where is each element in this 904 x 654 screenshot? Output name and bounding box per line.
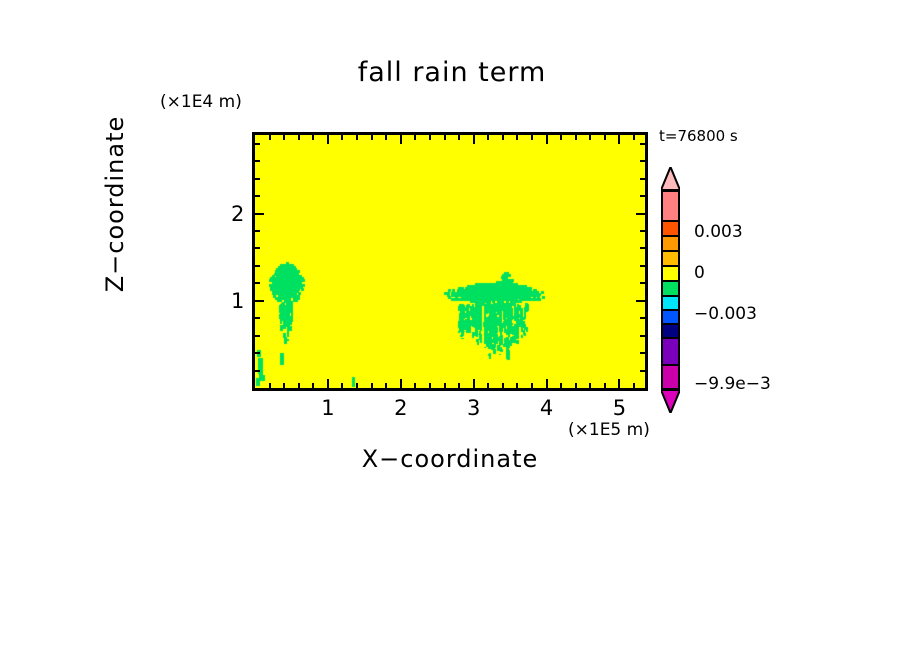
y-axis-minor-tick (255, 317, 260, 319)
y-axis-tick (255, 300, 264, 302)
colorbar-segment-amber (661, 250, 680, 265)
x-axis-minor-tick (575, 383, 577, 388)
y-axis-minor-tick (255, 282, 260, 284)
y-tick-label: 1 (231, 289, 244, 313)
x-axis-minor-tick (414, 383, 416, 388)
y-axis-minor-tick (640, 247, 645, 249)
y-axis-minor-tick (640, 317, 645, 319)
x-axis-minor-tick (283, 135, 285, 140)
x-axis-minor-tick (341, 383, 343, 388)
x-axis-minor-tick (298, 135, 300, 140)
x-axis-tick (327, 379, 329, 388)
y-axis-minor-tick (255, 178, 260, 180)
y-axis-unit-label: (×1E4 m) (160, 92, 242, 112)
x-axis-minor-tick (560, 135, 562, 140)
heatmap-canvas (255, 135, 645, 388)
x-axis-minor-tick (269, 135, 271, 140)
x-axis-tick (473, 135, 475, 144)
y-axis-minor-tick (640, 265, 645, 267)
colorbar-segment-orange-red (661, 220, 680, 235)
x-axis-minor-tick (516, 135, 518, 140)
colorbar-segment-orange (661, 235, 680, 250)
x-axis-minor-tick (458, 135, 460, 140)
x-axis-minor-tick (371, 383, 373, 388)
y-axis-minor-tick (255, 160, 260, 162)
x-axis-minor-tick (604, 135, 606, 140)
x-axis-tick (618, 379, 620, 388)
colorbar-upper-arrow (661, 167, 680, 190)
x-axis-tick (473, 379, 475, 388)
y-axis-minor-tick (640, 160, 645, 162)
y-axis-title: Z−coordinate (101, 74, 129, 334)
colorbar-segment-purple (661, 337, 680, 364)
x-axis-minor-tick (560, 383, 562, 388)
x-axis-unit-label: (×1E5 m) (568, 420, 650, 440)
x-axis-minor-tick (371, 135, 373, 140)
x-tick-label: 1 (321, 396, 334, 420)
y-axis-tick (636, 300, 645, 302)
x-axis-tick (400, 135, 402, 144)
y-tick-label: 2 (231, 202, 244, 226)
x-axis-minor-tick (356, 383, 358, 388)
colorbar-segment-magenta (661, 364, 680, 390)
y-axis-minor-tick (640, 370, 645, 372)
y-axis-minor-tick (255, 335, 260, 337)
x-axis-tick (618, 135, 620, 144)
colorbar[interactable] (661, 190, 680, 390)
colorbar-segment-green (661, 280, 680, 295)
colorbar-tick-label: 0 (694, 263, 705, 283)
y-axis-minor-tick (255, 352, 260, 354)
x-axis-tick (327, 135, 329, 144)
x-axis-minor-tick (312, 383, 314, 388)
x-axis-tick (546, 379, 548, 388)
x-axis-minor-tick (341, 135, 343, 140)
colorbar-segment-blue (661, 309, 680, 323)
y-axis-tick (255, 213, 264, 215)
colorbar-segment-navy (661, 323, 680, 337)
x-tick-label: 5 (613, 396, 626, 420)
y-axis-minor-tick (255, 195, 260, 197)
colorbar-segment-cyan (661, 295, 680, 309)
x-tick-label: 4 (540, 396, 553, 420)
x-axis-minor-tick (298, 383, 300, 388)
x-axis-minor-tick (283, 383, 285, 388)
plot-area[interactable] (252, 132, 648, 391)
y-axis-minor-tick (640, 230, 645, 232)
x-axis-minor-tick (429, 383, 431, 388)
colorbar-segment-yellow (661, 265, 680, 280)
y-axis-minor-tick (255, 370, 260, 372)
y-axis-minor-tick (255, 143, 260, 145)
y-axis-tick (636, 213, 645, 215)
x-axis-minor-tick (575, 135, 577, 140)
x-axis-minor-tick (502, 383, 504, 388)
x-axis-minor-tick (502, 135, 504, 140)
x-axis-minor-tick (487, 383, 489, 388)
x-axis-tick (400, 379, 402, 388)
x-axis-minor-tick (444, 135, 446, 140)
colorbar-lower-arrow (661, 390, 680, 413)
x-axis-minor-tick (516, 383, 518, 388)
x-axis-minor-tick (269, 383, 271, 388)
colorbar-segment-salmon (661, 190, 680, 220)
y-axis-minor-tick (640, 335, 645, 337)
x-axis-minor-tick (312, 135, 314, 140)
x-axis-minor-tick (444, 383, 446, 388)
x-axis-minor-tick (589, 135, 591, 140)
y-axis-minor-tick (640, 143, 645, 145)
y-axis-minor-tick (255, 230, 260, 232)
x-axis-minor-tick (633, 383, 635, 388)
x-axis-title: X−coordinate (252, 445, 648, 473)
x-axis-minor-tick (633, 135, 635, 140)
colorbar-tick-label: 0.003 (694, 222, 743, 242)
x-axis-minor-tick (531, 135, 533, 140)
x-axis-minor-tick (589, 383, 591, 388)
y-axis-minor-tick (640, 352, 645, 354)
x-axis-minor-tick (487, 135, 489, 140)
x-axis-minor-tick (414, 135, 416, 140)
y-axis-minor-tick (255, 265, 260, 267)
y-axis-minor-tick (640, 195, 645, 197)
x-axis-minor-tick (385, 135, 387, 140)
y-axis-minor-tick (255, 247, 260, 249)
x-tick-label: 3 (467, 396, 480, 420)
x-axis-minor-tick (531, 383, 533, 388)
colorbar-tick-label: −9.9e−3 (694, 374, 771, 394)
x-tick-label: 2 (394, 396, 407, 420)
y-axis-minor-tick (640, 178, 645, 180)
page-title: fall rain term (0, 57, 904, 88)
x-axis-minor-tick (356, 135, 358, 140)
y-axis-minor-tick (640, 282, 645, 284)
x-axis-tick (546, 135, 548, 144)
x-axis-minor-tick (429, 135, 431, 140)
colorbar-tick-label: −0.003 (694, 304, 757, 324)
x-axis-minor-tick (458, 383, 460, 388)
x-axis-minor-tick (604, 383, 606, 388)
x-axis-minor-tick (385, 383, 387, 388)
timestamp-label: t=76800 s (659, 127, 738, 145)
